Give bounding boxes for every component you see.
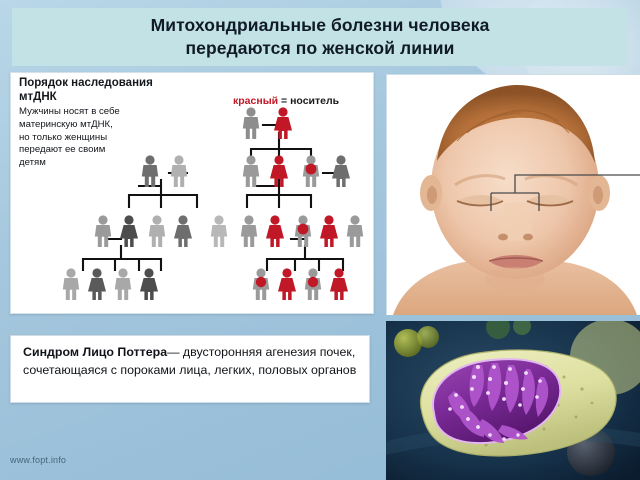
pedigree-body-text: Мужчины носят в себе материнскую мтДНК, …	[19, 106, 199, 170]
pedigree-text-block: Порядок наследования мтДНК Мужчины носят…	[19, 77, 199, 170]
slide-root: Митохондриальные болезни человека переда…	[0, 0, 640, 480]
pedigree-panel: Порядок наследования мтДНК Мужчины носят…	[10, 72, 374, 314]
mitochondrion-panel	[386, 321, 640, 480]
legend-carrier: красный = носитель	[233, 95, 339, 107]
mitochondrion-illustration	[386, 321, 640, 480]
caption-box: Синдром Лицо Поттера— двусторонняя агене…	[10, 335, 370, 403]
infant-face-panel	[386, 74, 640, 315]
legend-carrier-word: красный	[233, 95, 278, 107]
infant-face-illustration	[387, 75, 640, 315]
caption-text: Синдром Лицо Поттера— двусторонняя агене…	[23, 344, 359, 379]
legend-carrier-rest: = носитель	[278, 95, 339, 107]
page-title: Митохондриальные болезни человека переда…	[151, 14, 490, 60]
watermark: www.fopt.info	[10, 455, 66, 465]
caption-term: Синдром Лицо Поттера	[23, 345, 167, 359]
title-band: Митохондриальные болезни человека переда…	[12, 8, 628, 66]
pedigree-heading: Порядок наследования мтДНК	[19, 77, 199, 104]
